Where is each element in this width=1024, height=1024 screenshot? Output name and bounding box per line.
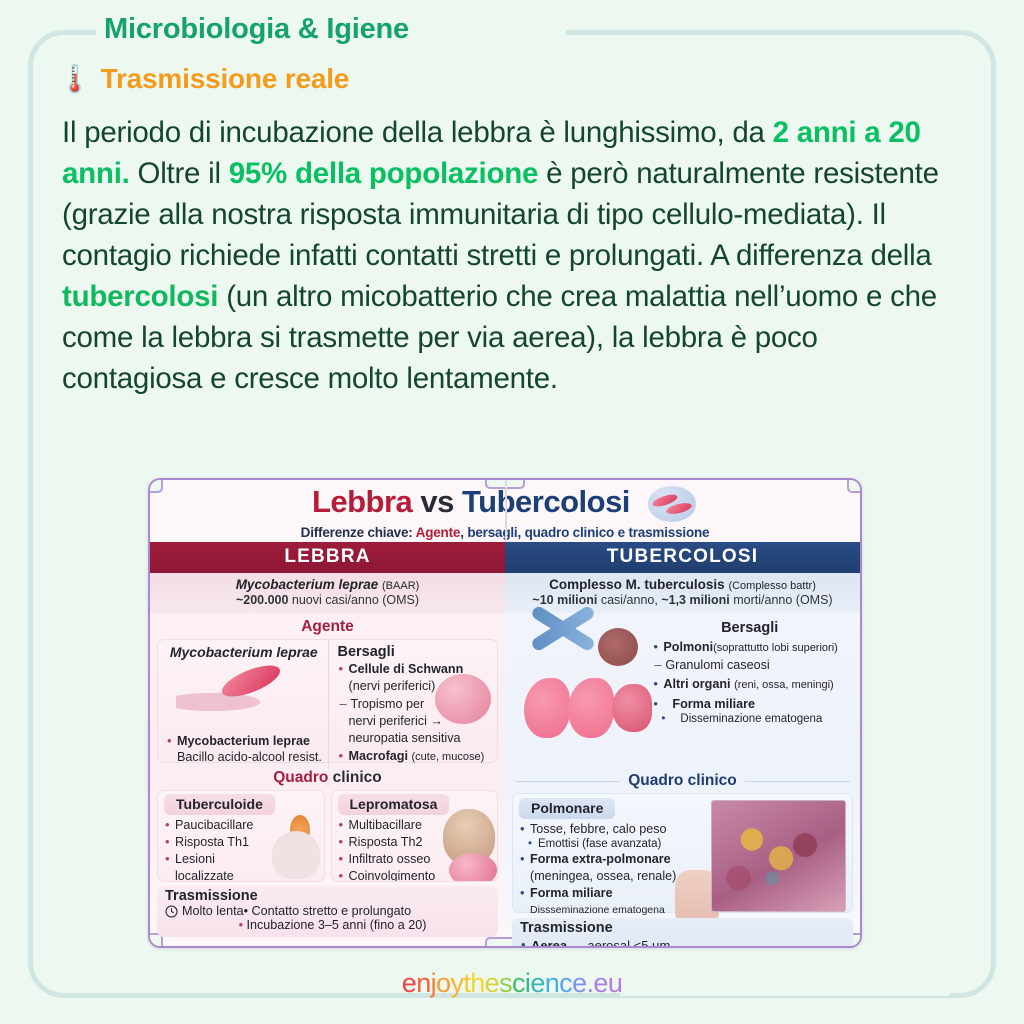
- body-part-2: Oltre il: [130, 157, 229, 190]
- tb-pulmonary-1-sub: Emottisi (fase avanzata): [519, 838, 705, 850]
- leprosy-lepromatous-item-1: Multibacillare: [338, 818, 493, 833]
- leprosy-target-1: Cellule di Schwann: [338, 662, 492, 677]
- leprosy-tuberculoid-item-2: Risposta Th1: [164, 835, 319, 850]
- card-notch-top-left: [148, 478, 163, 493]
- leprosy-agent-title: Agente: [150, 618, 505, 636]
- bacilli-illustration-icon: [646, 484, 698, 524]
- rule-left: [515, 781, 620, 782]
- rule-right: [745, 781, 850, 782]
- site-logo[interactable]: enjoythescience.eu: [402, 968, 622, 999]
- column-leprosy: LEBBRA Mycobacterium leprae (BAAR) ~200.…: [150, 542, 505, 932]
- tb-stat-a-note: casi/anno,: [601, 593, 658, 607]
- leprosy-tuberculoid-item-4: localizzate: [164, 869, 319, 882]
- tb-target-2-bold: Altri organi: [663, 677, 730, 691]
- thermometer-icon: 🌡️: [58, 66, 92, 93]
- tb-stat-line: ~10 milioni casi/anno, ~1,3 milioni mort…: [511, 593, 854, 607]
- logo-char: n: [416, 968, 430, 998]
- tb-target-1-sub: Granulomi caseosi: [652, 658, 847, 673]
- logo-char: y: [450, 968, 463, 998]
- tb-target-3: Forma miliare: [652, 697, 847, 712]
- logo-char: e: [572, 968, 586, 998]
- leprosy-lepromatous-title: Lepromatosa: [338, 794, 450, 815]
- subtitle-keyword-agent: Agente: [416, 525, 461, 540]
- leprosy-agent-bullet-bold: Mycobacterium leprae: [177, 734, 310, 748]
- logo-char: c: [559, 968, 572, 998]
- page-title: Microbiologia & Igiene: [104, 13, 409, 46]
- leprosy-target-2: Tropismo per: [338, 697, 492, 712]
- leprosy-target-1-note: (nervi periferici): [338, 679, 492, 694]
- body-part-1: Il periodo di incubazione della lebbra è…: [62, 116, 773, 149]
- title-leprosy: Lebbra: [312, 484, 412, 519]
- tb-target-1: Polmoni(soprattutto lobi superiori): [652, 640, 847, 656]
- leprosy-agent-bullet: Mycobacterium leprae: [166, 734, 329, 749]
- section-title: Trasmissione reale: [101, 63, 350, 95]
- tb-transmission-bold: Aerea: [531, 938, 567, 948]
- leprosy-target-1-bold: Cellule di Schwann: [349, 662, 464, 676]
- logo-char: s: [499, 968, 512, 998]
- tb-organism-note: (Complesso battr): [728, 580, 815, 592]
- leprosy-target-2-line2: nervi periferici →: [338, 714, 492, 729]
- footer: enjoythescience.eu: [0, 968, 1024, 999]
- leprosy-organism-note: (BAAR): [382, 580, 419, 592]
- leprosy-agent-species: Mycobacterium leprae: [166, 644, 322, 660]
- tb-transmission-title: Trasmissione: [520, 920, 845, 936]
- tb-target-1-bold: Polmoni: [663, 640, 713, 654]
- leprosy-tuberculoid-item-1: Paucibacillare: [164, 818, 319, 833]
- tb-pulmonary-2-note: (meningea, ossea, renale): [519, 869, 705, 884]
- band-tuberculosis: TUBERCOLOSI: [505, 542, 860, 573]
- tb-target-3-sub: Disseminazione ematogena: [652, 713, 847, 725]
- band-leprosy: LEBBRA: [150, 542, 505, 573]
- tb-targets-text: Bersagli Polmoni(soprattutto lobi superi…: [648, 618, 853, 768]
- tb-transmission-rest: → aerosal <5 μm: [571, 938, 671, 948]
- logo-char: e: [485, 968, 499, 998]
- leprosy-target-3: Macrofagi (cute, mucose): [338, 749, 492, 765]
- leprosy-transmission-line-2: Incubazione 3–5 anni (fino a 20): [165, 918, 490, 932]
- leprosy-target-2-line3: neuropatia sensitiva: [338, 731, 492, 746]
- leprosy-transmission-text-1: Molto lenta• Contatto stretto e prolunga…: [182, 904, 411, 918]
- logo-char: h: [470, 968, 484, 998]
- tb-stat-b-note: morti/anno (OMS): [733, 593, 832, 607]
- tb-clinical-panel: Polmonare Tosse, febbre, calo peso Emott…: [512, 793, 853, 913]
- card-notch-top-right: [847, 478, 862, 493]
- tb-organism-line: Complesso M. tuberculosis (Complesso bat…: [511, 577, 854, 592]
- leprosy-transmission-box: Trasmissione Molto lenta• Contatto stret…: [157, 886, 498, 937]
- body-highlight-population: 95% della popolazione: [229, 157, 538, 190]
- tb-histology-image: [711, 798, 846, 912]
- logo-char: c: [512, 968, 525, 998]
- tb-stat-b: ~1,3 milioni: [661, 593, 729, 607]
- leprosy-organism-line: Mycobacterium leprae (BAAR): [156, 577, 499, 592]
- clock-icon: [165, 905, 178, 918]
- subtitle-keyword-rest: bersagli, quadro clinico e trasmissione: [467, 525, 709, 540]
- leprosy-agent-bullet-sub: Bacillo acido-alcool resist.: [166, 750, 329, 765]
- tb-target-3-bold: Forma miliare: [672, 697, 755, 711]
- leprosy-transmission-title: Trasmissione: [165, 888, 490, 904]
- title-tuberculosis: Tubercolosi: [462, 484, 630, 519]
- tb-clinical-title-row: Quadro clinico: [505, 772, 860, 790]
- leprosy-targets-left: Bersagli Cellule di Schwann (nervi perif…: [328, 640, 498, 769]
- leprosy-clinical-title: Quadro clinico: [150, 769, 505, 787]
- leprosy-transmission-line-1: Molto lenta• Contatto stretto e prolunga…: [165, 904, 490, 918]
- leprosy-clinical-title-a: Quadro: [273, 769, 328, 786]
- leprosy-organism-block: Mycobacterium leprae (BAAR) ~200.000 nuo…: [150, 573, 505, 613]
- leprosy-clinical-row: Tuberculoide Paucibacillare Risposta Th1…: [150, 790, 505, 882]
- tb-pulmonary-3-note: Dissseminazione ematogena: [519, 903, 705, 918]
- leprosy-organism: Mycobacterium leprae: [236, 577, 379, 592]
- tb-organism: Complesso M. tuberculosis: [549, 577, 725, 592]
- tb-target-1-note: (soprattutto lobi superiori): [713, 642, 838, 654]
- tb-stat-a: ~10 milioni: [532, 593, 597, 607]
- body-highlight-tuberculosis: tubercolosi: [62, 280, 218, 313]
- tb-pulmonary-title: Polmonare: [519, 798, 615, 819]
- leprosy-tuberculoid-item-3: Lesioni: [164, 852, 319, 867]
- logo-char: e: [593, 968, 607, 998]
- subtitle-prefix: Differenze chiave:: [301, 525, 416, 540]
- leprosy-tuberculoid-box: Tuberculoide Paucibacillare Risposta Th1…: [157, 790, 325, 882]
- tb-illustrations: [512, 618, 648, 768]
- leprosy-lepromatous-box: Lepromatosa Multibacillare Risposta Th2 …: [331, 790, 499, 882]
- leprosy-lepromatous-item-4: Coinvolgimento: [338, 869, 493, 882]
- logo-char: o: [436, 968, 450, 998]
- tb-transmission-box: Trasmissione Aerea → aerosal <5 μm nucle…: [512, 918, 853, 948]
- tb-clinical-title: Quadro clinico: [628, 772, 737, 790]
- tb-transmission-line-1: Aerea → aerosal <5 μm: [520, 938, 845, 948]
- tb-targets-panel: Bersagli Polmoni(soprattutto lobi superi…: [512, 618, 853, 768]
- tb-targets-title: Bersagli: [652, 620, 847, 636]
- comparison-columns: LEBBRA Mycobacterium leprae (BAAR) ~200.…: [150, 542, 860, 932]
- body-paragraph: Il periodo di incubazione della lebbra è…: [62, 112, 962, 399]
- tb-organism-block: Complesso M. tuberculosis (Complesso bat…: [505, 573, 860, 613]
- leprosy-clinical-title-b: clinico: [333, 769, 382, 786]
- leprosy-target-3-bold: Macrofagi: [349, 749, 408, 763]
- tb-pulmonary-3-bold: Forma miliare: [530, 886, 613, 900]
- leprosy-stat-line: ~200.000 nuovi casi/anno (OMS): [156, 593, 499, 607]
- tb-clinical-row: Polmonare Tosse, febbre, calo peso Emott…: [519, 798, 846, 912]
- tb-targets-row: Bersagli Polmoni(soprattutto lobi superi…: [512, 618, 853, 768]
- column-tuberculosis: TUBERCOLOSI Complesso M. tuberculosis (C…: [505, 542, 860, 932]
- leprosy-stat-note: nuovi casi/anno (OMS): [292, 593, 419, 607]
- logo-char: e: [402, 968, 416, 998]
- leprosy-targets-title: Bersagli: [338, 644, 492, 660]
- tb-target-2: Altri organi (reni, ossa, meningi): [652, 677, 847, 693]
- infographic-card[interactable]: Lebbra vs Tubercolosi Differenze chiave:…: [148, 478, 862, 948]
- tb-pulmonary-2: Forma extra-polmonare: [519, 852, 705, 867]
- section-heading: 🌡️ Trasmissione reale: [58, 63, 349, 95]
- leprosy-target-3-note: (cute, mucose): [411, 751, 484, 763]
- tb-target-2-note: (reni, ossa, meningi): [734, 679, 834, 691]
- tb-pulmonary-text: Polmonare Tosse, febbre, calo peso Emott…: [519, 798, 705, 912]
- leprosy-agent-left: Mycobacterium leprae Mycobacterium lepra…: [158, 640, 328, 769]
- leprosy-tuberculoid-title: Tuberculoide: [164, 794, 275, 815]
- leprosy-lepromatous-item-3: Infiltrato osseo: [338, 852, 493, 867]
- page-root: Microbiologia & Igiene 🌡️ Trasmissione r…: [0, 0, 1024, 1024]
- tb-pulmonary-2-bold: Forma extra-polmonare: [530, 852, 671, 866]
- leprosy-agent-row: Mycobacterium leprae Mycobacterium lepra…: [158, 640, 497, 769]
- title-vs: vs: [420, 484, 453, 519]
- logo-char: n: [545, 968, 559, 998]
- leprosy-lepromatous-item-2: Risposta Th2: [338, 835, 493, 850]
- logo-char: u: [608, 968, 622, 998]
- tb-pulmonary-1: Tosse, febbre, calo peso: [519, 822, 705, 837]
- logo-char: e: [530, 968, 544, 998]
- tb-pulmonary-3: Forma miliare: [519, 886, 705, 901]
- leprosy-agent-panel: Mycobacterium leprae Mycobacterium lepra…: [157, 639, 498, 763]
- leprosy-stat-value: ~200.000: [236, 593, 288, 607]
